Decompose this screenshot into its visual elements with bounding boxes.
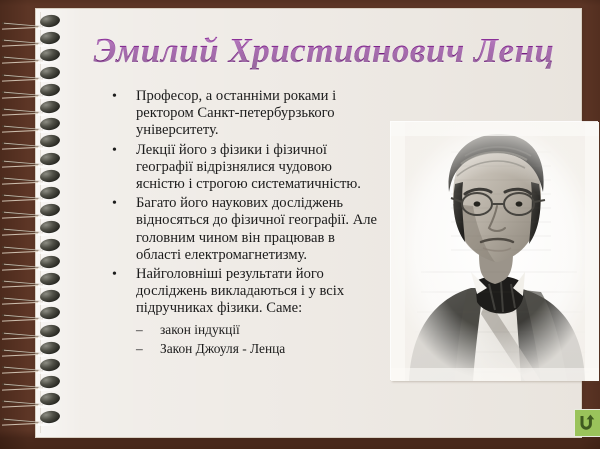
sub-list-item: – Закон Джоуля - Ленца (136, 339, 378, 358)
bullet-marker: • (112, 142, 117, 159)
return-button[interactable] (574, 409, 600, 437)
list-item: • Найголовніші результати його досліджен… (108, 266, 378, 318)
sub-list-item-text: закон індукції (160, 322, 240, 337)
sub-list-item: – закон індукції (136, 320, 378, 339)
notebook-page: Эмилий Христианович Ленц • Професор, а о… (35, 8, 582, 438)
list-item-text: Найголовніші результати його досліджень … (136, 266, 344, 316)
page-title: Эмилий Христианович Ленц (74, 31, 574, 71)
list-item-text: Лекції його з фізики і фізичної географі… (136, 142, 361, 192)
u-turn-arrow-icon (578, 413, 598, 433)
bullet-marker: • (112, 195, 117, 212)
portrait-engraving-svg (391, 122, 599, 381)
portrait-image (391, 122, 599, 381)
list-item: • Лекції його з фізики і фізичної геогра… (108, 142, 378, 194)
dash-marker: – (136, 320, 143, 339)
sub-list: – закон індукції – Закон Джоуля - Ленца (108, 320, 378, 358)
dash-marker: – (136, 339, 143, 358)
presentation-slide: Эмилий Христианович Ленц • Професор, а о… (0, 0, 600, 449)
bullet-marker: • (112, 88, 117, 105)
list-item-text: Професор, а останніми роками і ректором … (136, 88, 336, 138)
bullet-marker: • (112, 266, 117, 283)
list-item-text: Багато його наукових досліджень відносят… (136, 195, 377, 263)
sub-list-item-text: Закон Джоуля - Ленца (160, 341, 285, 356)
list-item: • Професор, а останніми роками і ректоро… (108, 88, 378, 140)
list-item: • Багато його наукових досліджень віднос… (108, 195, 378, 264)
bullet-list: • Професор, а останніми роками і ректоро… (108, 88, 378, 358)
